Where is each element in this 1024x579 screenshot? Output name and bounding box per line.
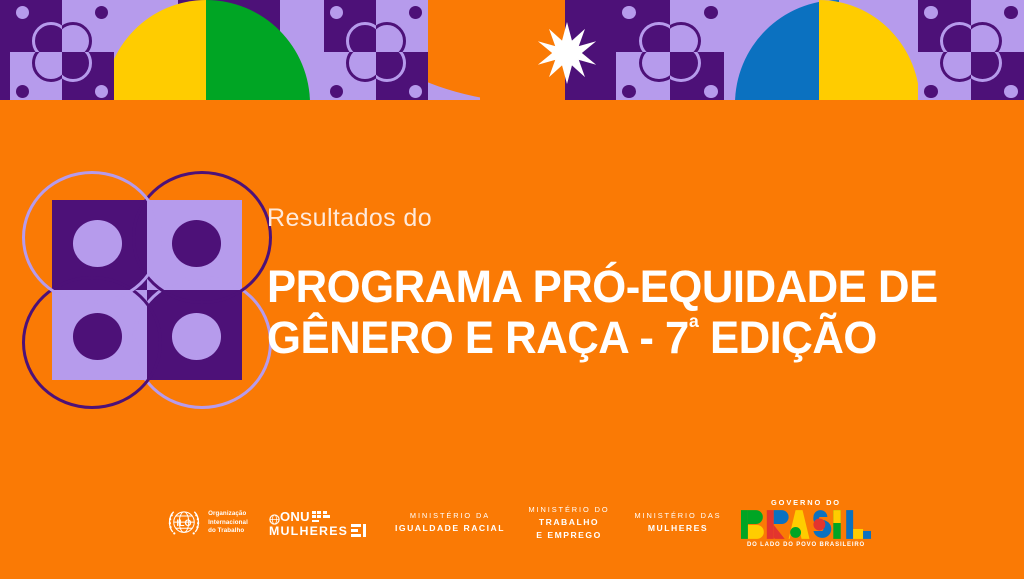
igualdade-line-1: MINISTÉRIO DA	[410, 510, 490, 522]
gov-top-text: GOVERNO DO	[771, 498, 841, 507]
motif-quadrant	[10, 0, 62, 52]
onu-word: ONU	[280, 509, 310, 524]
dot-icon	[704, 85, 718, 99]
motif-quadrant	[971, 52, 1024, 104]
dot-icon	[16, 85, 30, 99]
dot-icon	[924, 85, 938, 99]
ring-arc-icon	[971, 52, 1002, 82]
dot-icon	[622, 6, 636, 20]
eleven-point-star-icon	[536, 22, 598, 84]
dot-icon	[330, 6, 344, 20]
motif-quadrant	[324, 52, 376, 104]
pattern-motif-tile	[10, 0, 114, 104]
motif-quadrant	[616, 52, 670, 104]
ilo-line-3: do Trabalho	[208, 527, 248, 536]
motif-quadrant	[62, 52, 114, 104]
onu-bottom-row: MULHERES	[269, 524, 366, 538]
ring-arc-icon	[32, 52, 62, 82]
footer-logo-strip: ILO Organização Internacional do Trabalh…	[0, 491, 1024, 555]
dot-icon	[924, 6, 938, 20]
logo-ilo: ILO Organização Internacional do Trabalh…	[145, 505, 269, 541]
trabalho-line-3: E EMPREGO	[536, 529, 602, 542]
ring-arc-icon	[670, 22, 701, 52]
headline-line-2-part-b: EDIÇÃO	[698, 312, 876, 363]
motif-quadrant	[971, 0, 1024, 52]
ring-arc-icon	[62, 52, 92, 82]
dot-icon	[16, 6, 30, 20]
ilo-line-2: Internacional	[208, 519, 248, 528]
motif-quadrant	[62, 0, 114, 52]
svg-text:ILO: ILO	[177, 518, 192, 528]
headline-line-1: PROGRAMA PRÓ-EQUIDADE DE	[267, 264, 975, 311]
pattern-motif-tile	[918, 0, 1024, 104]
motif-quadrant	[918, 52, 971, 104]
igualdade-line-2: IGUALDADE RACIAL	[395, 522, 505, 535]
ilo-line-1: Organização	[208, 510, 248, 519]
ring-arc-icon	[376, 22, 406, 52]
headline-line-2-part-a: GÊNERO E RAÇA - 7	[267, 312, 689, 363]
un-women-glyph-icon	[312, 511, 331, 522]
logo-onu-mulheres: ONU MULHERES	[269, 509, 385, 538]
motif-quadrant	[918, 0, 971, 52]
ring-arc-icon	[639, 22, 670, 52]
pattern-motif-tile	[324, 0, 428, 104]
dot-icon	[409, 6, 423, 20]
min-mulheres-line-1: MINISTÉRIO DAS	[635, 510, 722, 522]
dot-icon	[1004, 6, 1018, 20]
ring-arc-icon	[32, 22, 62, 52]
header-pattern-band	[0, 0, 1024, 104]
programa-pro-equidade-logo	[52, 200, 242, 380]
motif-quadrant	[616, 0, 670, 52]
dot-icon	[95, 6, 109, 20]
trabalho-line-2: TRABALHO	[539, 516, 599, 529]
motif-quadrant	[670, 0, 724, 52]
ring-arc-icon	[670, 52, 701, 82]
dot-icon	[704, 6, 718, 20]
ilo-laurel-emblem-icon: ILO	[166, 505, 202, 541]
eyebrow-text: Resultados do	[267, 203, 997, 233]
logo-governo-do-brasil: GOVERNO DO	[733, 498, 879, 548]
logo-ministerio-trabalho-emprego: MINISTÉRIO DO TRABALHO E EMPREGO	[515, 504, 623, 543]
dot-icon	[330, 85, 344, 99]
ring-arc-icon	[940, 52, 971, 82]
dot-icon	[622, 85, 636, 99]
dot-icon	[95, 85, 109, 99]
motif-quadrant	[670, 52, 724, 104]
un-globe-emblem-icon	[269, 512, 278, 521]
hero-title-block: Resultados do PROGRAMA PRÓ-EQUIDADE DE G…	[267, 203, 997, 362]
headline-line-2: GÊNERO E RAÇA - 7ª EDIÇÃO	[267, 313, 975, 362]
min-mulheres-line-2: MULHERES	[648, 522, 708, 535]
dot-icon	[172, 313, 221, 360]
motif-quadrant	[376, 52, 428, 104]
ring-arc-icon	[940, 22, 971, 52]
motif-quadrant	[324, 0, 376, 52]
ring-arc-icon	[346, 22, 376, 52]
headline-ordinal-suffix: ª	[689, 312, 699, 343]
gov-bottom-text: DO LADO DO POVO BRASILEIRO	[747, 542, 865, 548]
trabalho-line-1: MINISTÉRIO DO	[529, 504, 610, 516]
ring-arc-icon	[22, 171, 163, 304]
motif-quadrant	[376, 0, 428, 52]
brasil-wordmark-icon	[740, 509, 872, 540]
un-women-glyph-icon-2	[351, 524, 366, 537]
motif-quadrant	[10, 52, 62, 104]
dot-icon	[409, 85, 423, 99]
logo-ministerio-igualdade-racial: MINISTÉRIO DA IGUALDADE RACIAL	[385, 510, 515, 536]
pattern-motif-tile	[616, 0, 724, 104]
ring-arc-icon	[62, 22, 92, 52]
mulheres-word: MULHERES	[269, 524, 348, 538]
dot-icon	[1004, 85, 1018, 99]
onu-top-row: ONU	[269, 509, 331, 524]
ring-arc-icon	[376, 52, 406, 82]
pattern-bottom-edge	[0, 100, 1024, 104]
ring-arc-icon	[346, 52, 376, 82]
ring-arc-icon	[639, 52, 670, 82]
ring-arc-icon	[971, 22, 1002, 52]
ilo-wordmark: Organização Internacional do Trabalho	[208, 510, 248, 536]
logo-ministerio-mulheres: MINISTÉRIO DAS MULHERES	[623, 510, 733, 536]
